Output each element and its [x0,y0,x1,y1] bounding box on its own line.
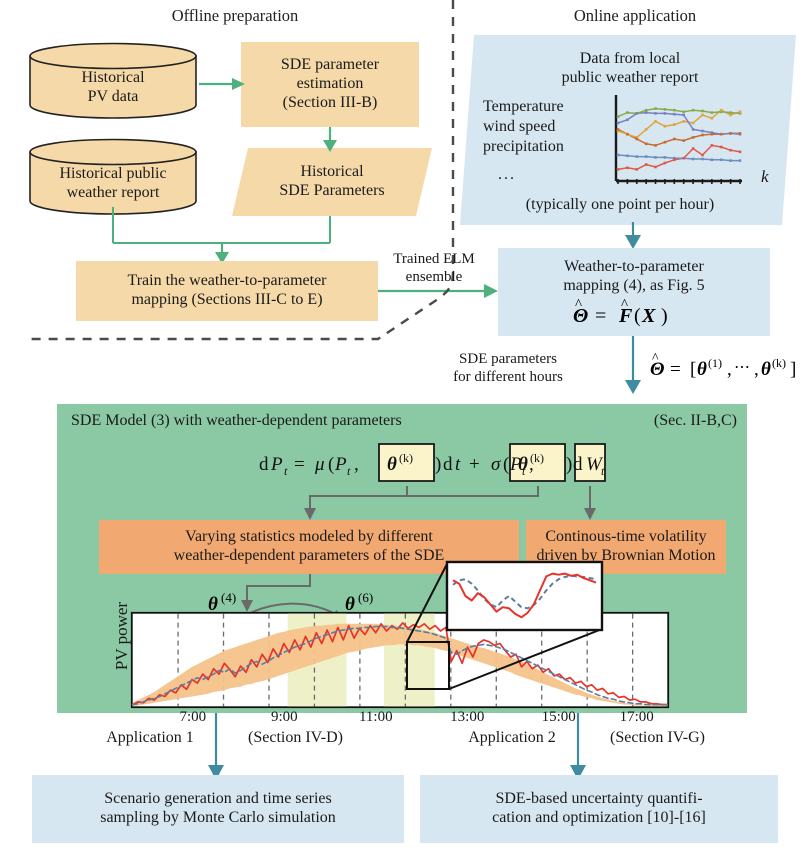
svg-text:t: t [347,464,351,478]
svg-text:(k): (k) [399,451,413,465]
application-2-section: (Section IV-G) [590,727,725,749]
chart-ylabel: PV power [112,597,132,675]
svg-text:,: , [727,359,732,380]
sde-params-hours-label: SDE parameters for different hours [428,348,588,390]
application-1-section: (Section IV-D) [228,727,363,749]
svg-text:d: d [443,454,453,475]
sde-params-line2: for different hours [453,369,563,387]
mini-chart-series-group [617,107,742,170]
map-line2: mapping (4), as Fig. 5 [563,277,704,296]
svg-text:d: d [573,454,583,475]
application-2-box: SDE-based uncertainty quantifi- cation a… [420,775,778,843]
online-application-header: Online application [520,5,750,27]
sde-equation: d P t = μ ( P t , θ (k) ) d t + σ ( [257,440,607,486]
sde-equation-svg: d P t = μ ( P t , θ (k) ) d t + σ ( [257,440,607,486]
svg-text:(: ( [503,454,509,475]
svg-text:⋯: ⋯ [734,359,750,376]
svg-text:+: + [469,454,480,475]
feature-temperature: Temperature [483,97,613,117]
svg-text:P: P [270,454,283,475]
svg-text:(k): (k) [772,356,786,370]
varying-stats-line1: Varying statistics modeled by different [185,528,433,547]
feature-ellipsis: ... [483,165,531,185]
historical-weather-label: Historical public weather report [28,160,198,208]
svg-text:[: [ [690,359,696,380]
svg-text:=: = [294,454,305,475]
svg-text:): ) [435,454,441,475]
mapping-box-label: Weather-to-parameter mapping (4), as Fig… [498,255,770,299]
sde-parameter-estimation-box: SDE parameter estimation (Section III-B) [241,42,419,127]
app2-line2: cation and optimization [10]-[16] [492,809,706,828]
sde-panel-section-ref: (Sec. II-B,C) [577,412,737,434]
data-src-line1: Data from local [580,50,680,69]
orange-box-down-connectors [57,404,747,604]
theta-vector-svg: Θ ^ = [ θ (1) , ⋯ , θ (k) ] [648,352,803,382]
mini-chart-k-label: k [761,167,769,187]
svg-text:,: , [754,359,759,380]
sde-params-line1: SDE parameters [459,351,557,369]
historical-sde-params-label: Historical SDE Parameters [232,158,432,206]
map-line1: Weather-to-parameter [564,258,704,277]
app2-line1: SDE-based uncertainty quantifi- [495,790,702,809]
svg-text:μ: μ [314,454,325,475]
svg-text:(: ( [634,305,641,327]
svg-text:θ: θ [697,359,707,380]
data-src-line2: public weather report [562,69,699,88]
sampling-note: (typically one point per hour) [470,193,770,217]
inset-series-lines [453,574,596,618]
svg-text:θ: θ [387,454,397,475]
volatility-line1: Continous-time volatility [545,528,706,547]
sde-model-panel: SDE Model (3) with weather-dependent par… [57,404,747,713]
svg-text:(4): (4) [221,590,236,605]
svg-text:=: = [670,359,681,380]
feature-precipitation: precipitation [483,137,613,157]
mapping-formula: Θ ^ = F ^ ( X ) [498,300,770,330]
svg-text:θ: θ [761,359,771,380]
svg-text:]: ] [790,359,796,380]
feature-wind-speed: wind speed [483,117,613,137]
xtick-17-00: 17:00 [607,709,667,726]
xtick-13-00: 13:00 [437,709,497,726]
application-1-label: Application 1 [90,727,210,749]
svg-text:θ: θ [518,454,528,475]
historical-weather-report-cylinder: Historical public weather report [28,138,198,215]
svg-text:^: ^ [621,297,628,313]
weather-mini-chart [608,93,758,193]
figure-root: Offline preparation Online application H… [0,0,803,853]
svg-text:t: t [284,464,288,478]
trained-elm-label: Trained ELM ensemble [379,248,489,290]
pv-label-line1: Historical [81,69,144,88]
svg-text:^: ^ [575,297,582,313]
app1-line1: Scenario generation and time series [104,790,331,809]
xtick-7-00: 7:00 [163,709,223,726]
app1-line2: sampling by Monte Carlo simulation [100,809,336,828]
weather-label-line2: weather report [67,184,160,203]
volatility-line2: driven by Brownian Motion [536,547,715,566]
svg-text:X: X [641,305,656,327]
svg-text:d: d [259,454,269,475]
historical-pv-data-label: Historical PV data [28,64,198,112]
svg-text:(k): (k) [530,451,544,465]
svg-text:=: = [595,305,606,327]
weather-data-source-parallelogram: Data from local public weather report Te… [460,35,796,225]
chart-xtick-labels: 7:009:0011:0013:0015:0017:00 [131,708,669,732]
svg-text:^: ^ [652,351,659,366]
pv-label-line2: PV data [88,88,139,107]
offline-preparation-header: Offline preparation [110,5,360,27]
weather-feature-list: Temperature wind speed precipitation ... [483,97,613,185]
mapping-formula-svg: Θ ^ = F ^ ( X ) [569,300,699,330]
svg-text:P: P [334,454,347,475]
svg-text:t: t [455,454,461,475]
pv-power-chart: PV power 7:009:0011:0013:0015:0017:00 [89,612,689,708]
hist-params-line2: SDE Parameters [279,182,384,201]
sde-est-line3: (Section III-B) [283,94,378,113]
svg-text:): ) [566,454,572,475]
trained-elm-line2: ensemble [406,269,463,287]
application-1-box: Scenario generation and time series samp… [32,775,404,843]
svg-text:(1): (1) [708,356,722,370]
weather-to-parameter-mapping-box: Weather-to-parameter mapping (4), as Fig… [498,248,770,336]
svg-text:): ) [661,305,668,327]
theta-vector-formula: Θ ^ = [ θ (1) , ⋯ , θ (k) ] [648,352,803,382]
svg-text:σ: σ [491,454,501,475]
sde-panel-title: SDE Model (3) with weather-dependent par… [71,412,541,434]
ylabel-text: PV power [112,602,131,670]
train-line1: Train the weather-to-parameter [128,272,327,291]
train-line2: mapping (Sections III-C to E) [131,291,322,310]
svg-text:(6): (6) [358,590,373,605]
hist-params-line1: Historical [300,163,363,182]
application-2-label: Application 2 [452,727,572,749]
pv-chart-svg [131,612,669,708]
varying-stats-line2: weather-dependent parameters of the SDE [174,547,445,566]
svg-text:,: , [354,454,359,475]
sde-est-line2: estimation [297,75,364,94]
varying-statistics-box: Varying statistics modeled by different … [99,520,519,574]
xtick-11-00: 11:00 [346,709,406,726]
brownian-volatility-box: Continous-time volatility driven by Brow… [526,520,726,574]
xtick-9-00: 9:00 [254,709,314,726]
train-mapping-box: Train the weather-to-parameter mapping (… [76,261,378,321]
weather-label-line1: Historical public [59,165,166,184]
trained-elm-line1: Trained ELM [393,251,475,269]
data-source-title: Data from local public weather report [490,47,770,91]
historical-sde-parameters-parallelogram: Historical SDE Parameters [232,148,432,216]
sde-est-line1: SDE parameter [281,56,379,75]
xtick-15-00: 15:00 [529,709,589,726]
historical-pv-data-cylinder: Historical PV data [28,42,198,119]
svg-text:(: ( [328,454,334,475]
